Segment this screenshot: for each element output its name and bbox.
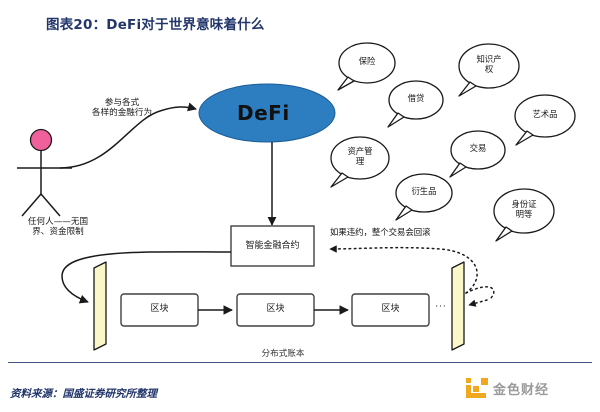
actor-stick-figure — [17, 130, 72, 217]
defi-node-label: DeFi — [237, 101, 290, 125]
block-node — [352, 294, 429, 326]
watermark-text: 金色财经 — [493, 379, 549, 398]
bubble-ip-rights — [459, 44, 519, 96]
bubble-lending — [388, 81, 443, 127]
ledger-bracket-right — [452, 262, 464, 350]
bubble-art — [515, 95, 575, 145]
block-node — [121, 294, 198, 326]
actor-to-defi-edge — [60, 107, 196, 168]
smart-contract-node — [231, 226, 314, 266]
bubble-derivatives — [396, 174, 452, 220]
block-node — [237, 294, 314, 326]
ledger-bracket-left — [94, 262, 106, 350]
use-case-bubbles — [331, 43, 575, 241]
figure-source: 资料来源：国盛证券研究所整理 — [10, 386, 157, 401]
watermark: 金色财经 — [466, 378, 549, 398]
diagram-svg — [0, 0, 600, 412]
bubble-asset-management — [331, 137, 389, 187]
figure-canvas: 图表20：DeFi对于世界意味着什么 — [0, 0, 600, 412]
rollback-edge-into-bracket — [469, 300, 487, 305]
jinse-logo-icon — [466, 378, 488, 398]
ledger-blocks — [121, 294, 429, 326]
footer-divider — [8, 362, 592, 363]
bubble-insurance — [338, 43, 395, 90]
bubble-trading — [450, 131, 505, 177]
bubble-identity — [494, 189, 554, 241]
